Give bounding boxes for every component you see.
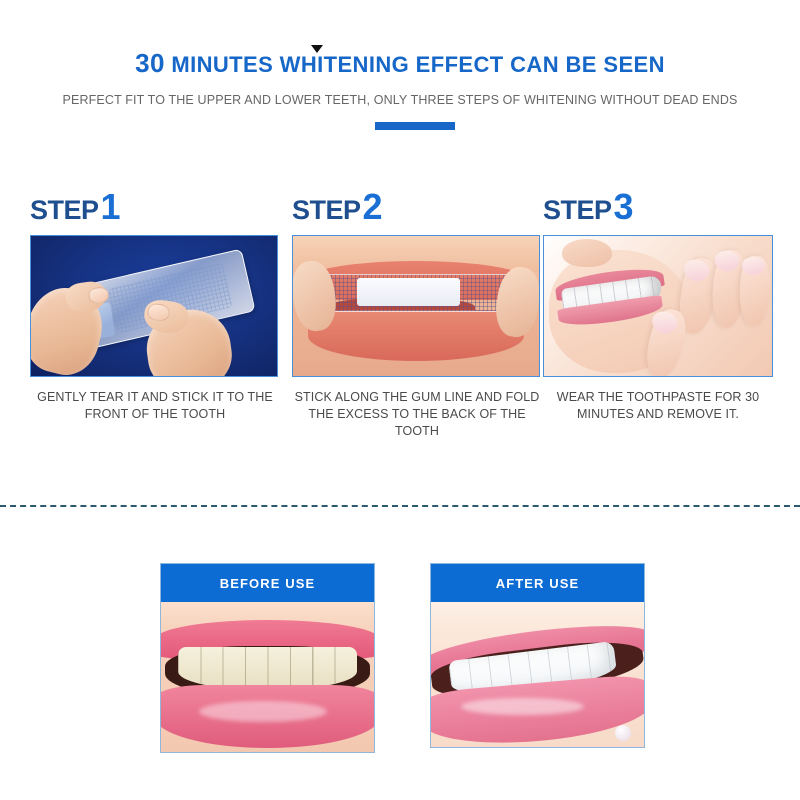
step-image-1 — [30, 235, 278, 377]
after-smile-illustration — [431, 602, 644, 747]
left-hand-shape — [30, 280, 110, 377]
section-divider — [0, 505, 800, 507]
whitening-strip-illustration — [31, 236, 277, 376]
before-use-banner: BEFORE USE — [161, 564, 374, 602]
yellow-teeth-shape — [178, 647, 357, 689]
step-caption-3: WEAR THE TOOTHPASTE FOR 30 MINUTES AND R… — [535, 389, 781, 423]
step-label-2: STEP2 — [292, 185, 383, 229]
page-title-lead: 30 — [135, 48, 165, 78]
page-subtitle: PERFECT FIT TO THE UPPER AND LOWER TEETH… — [0, 93, 800, 107]
step-word-2: STEP — [292, 195, 361, 225]
title-accent-bar — [375, 122, 455, 130]
step-image-2 — [292, 235, 540, 377]
lip-gloss-highlight — [199, 701, 327, 722]
after-use-banner: AFTER USE — [431, 564, 644, 602]
steps-section: STEP1 GENTLY TEAR IT AND STICK IT TO THE… — [0, 185, 800, 475]
step-label-3: STEP3 — [543, 185, 634, 229]
mouth-with-strip-illustration — [293, 236, 539, 376]
page-title: 30 MINUTES WHITENING EFFECT CAN BE SEEN — [0, 48, 800, 79]
step-number-3: 3 — [614, 186, 634, 227]
strip-center-highlight — [357, 278, 460, 306]
step-word-3: STEP — [543, 195, 612, 225]
step-label-1: STEP1 — [30, 185, 121, 229]
step-caption-1: GENTLY TEAR IT AND STICK IT TO THE FRONT… — [24, 389, 286, 423]
before-after-section: BEFORE USE AFTER USE — [0, 563, 800, 763]
lip-gloss-highlight — [461, 698, 585, 715]
step-number-2: 2 — [363, 186, 383, 227]
page-title-rest: MINUTES WHITENING EFFECT CAN BE SEEN — [165, 52, 665, 77]
pearl-accent-shape — [615, 725, 631, 741]
step-number-1: 1 — [101, 186, 121, 227]
step-caption-2: STICK ALONG THE GUM LINE AND FOLD THE EX… — [286, 389, 548, 440]
before-use-image — [161, 602, 374, 752]
smiling-woman-illustration — [544, 236, 772, 376]
step-image-3 — [543, 235, 773, 377]
before-smile-illustration — [161, 602, 374, 752]
step-word-1: STEP — [30, 195, 99, 225]
after-use-card: AFTER USE — [430, 563, 645, 748]
lower-lip-shape — [308, 310, 524, 360]
after-use-image — [431, 602, 644, 747]
nose-shape — [562, 239, 612, 267]
before-use-card: BEFORE USE — [160, 563, 375, 753]
cursor-pointer-icon — [311, 45, 323, 53]
